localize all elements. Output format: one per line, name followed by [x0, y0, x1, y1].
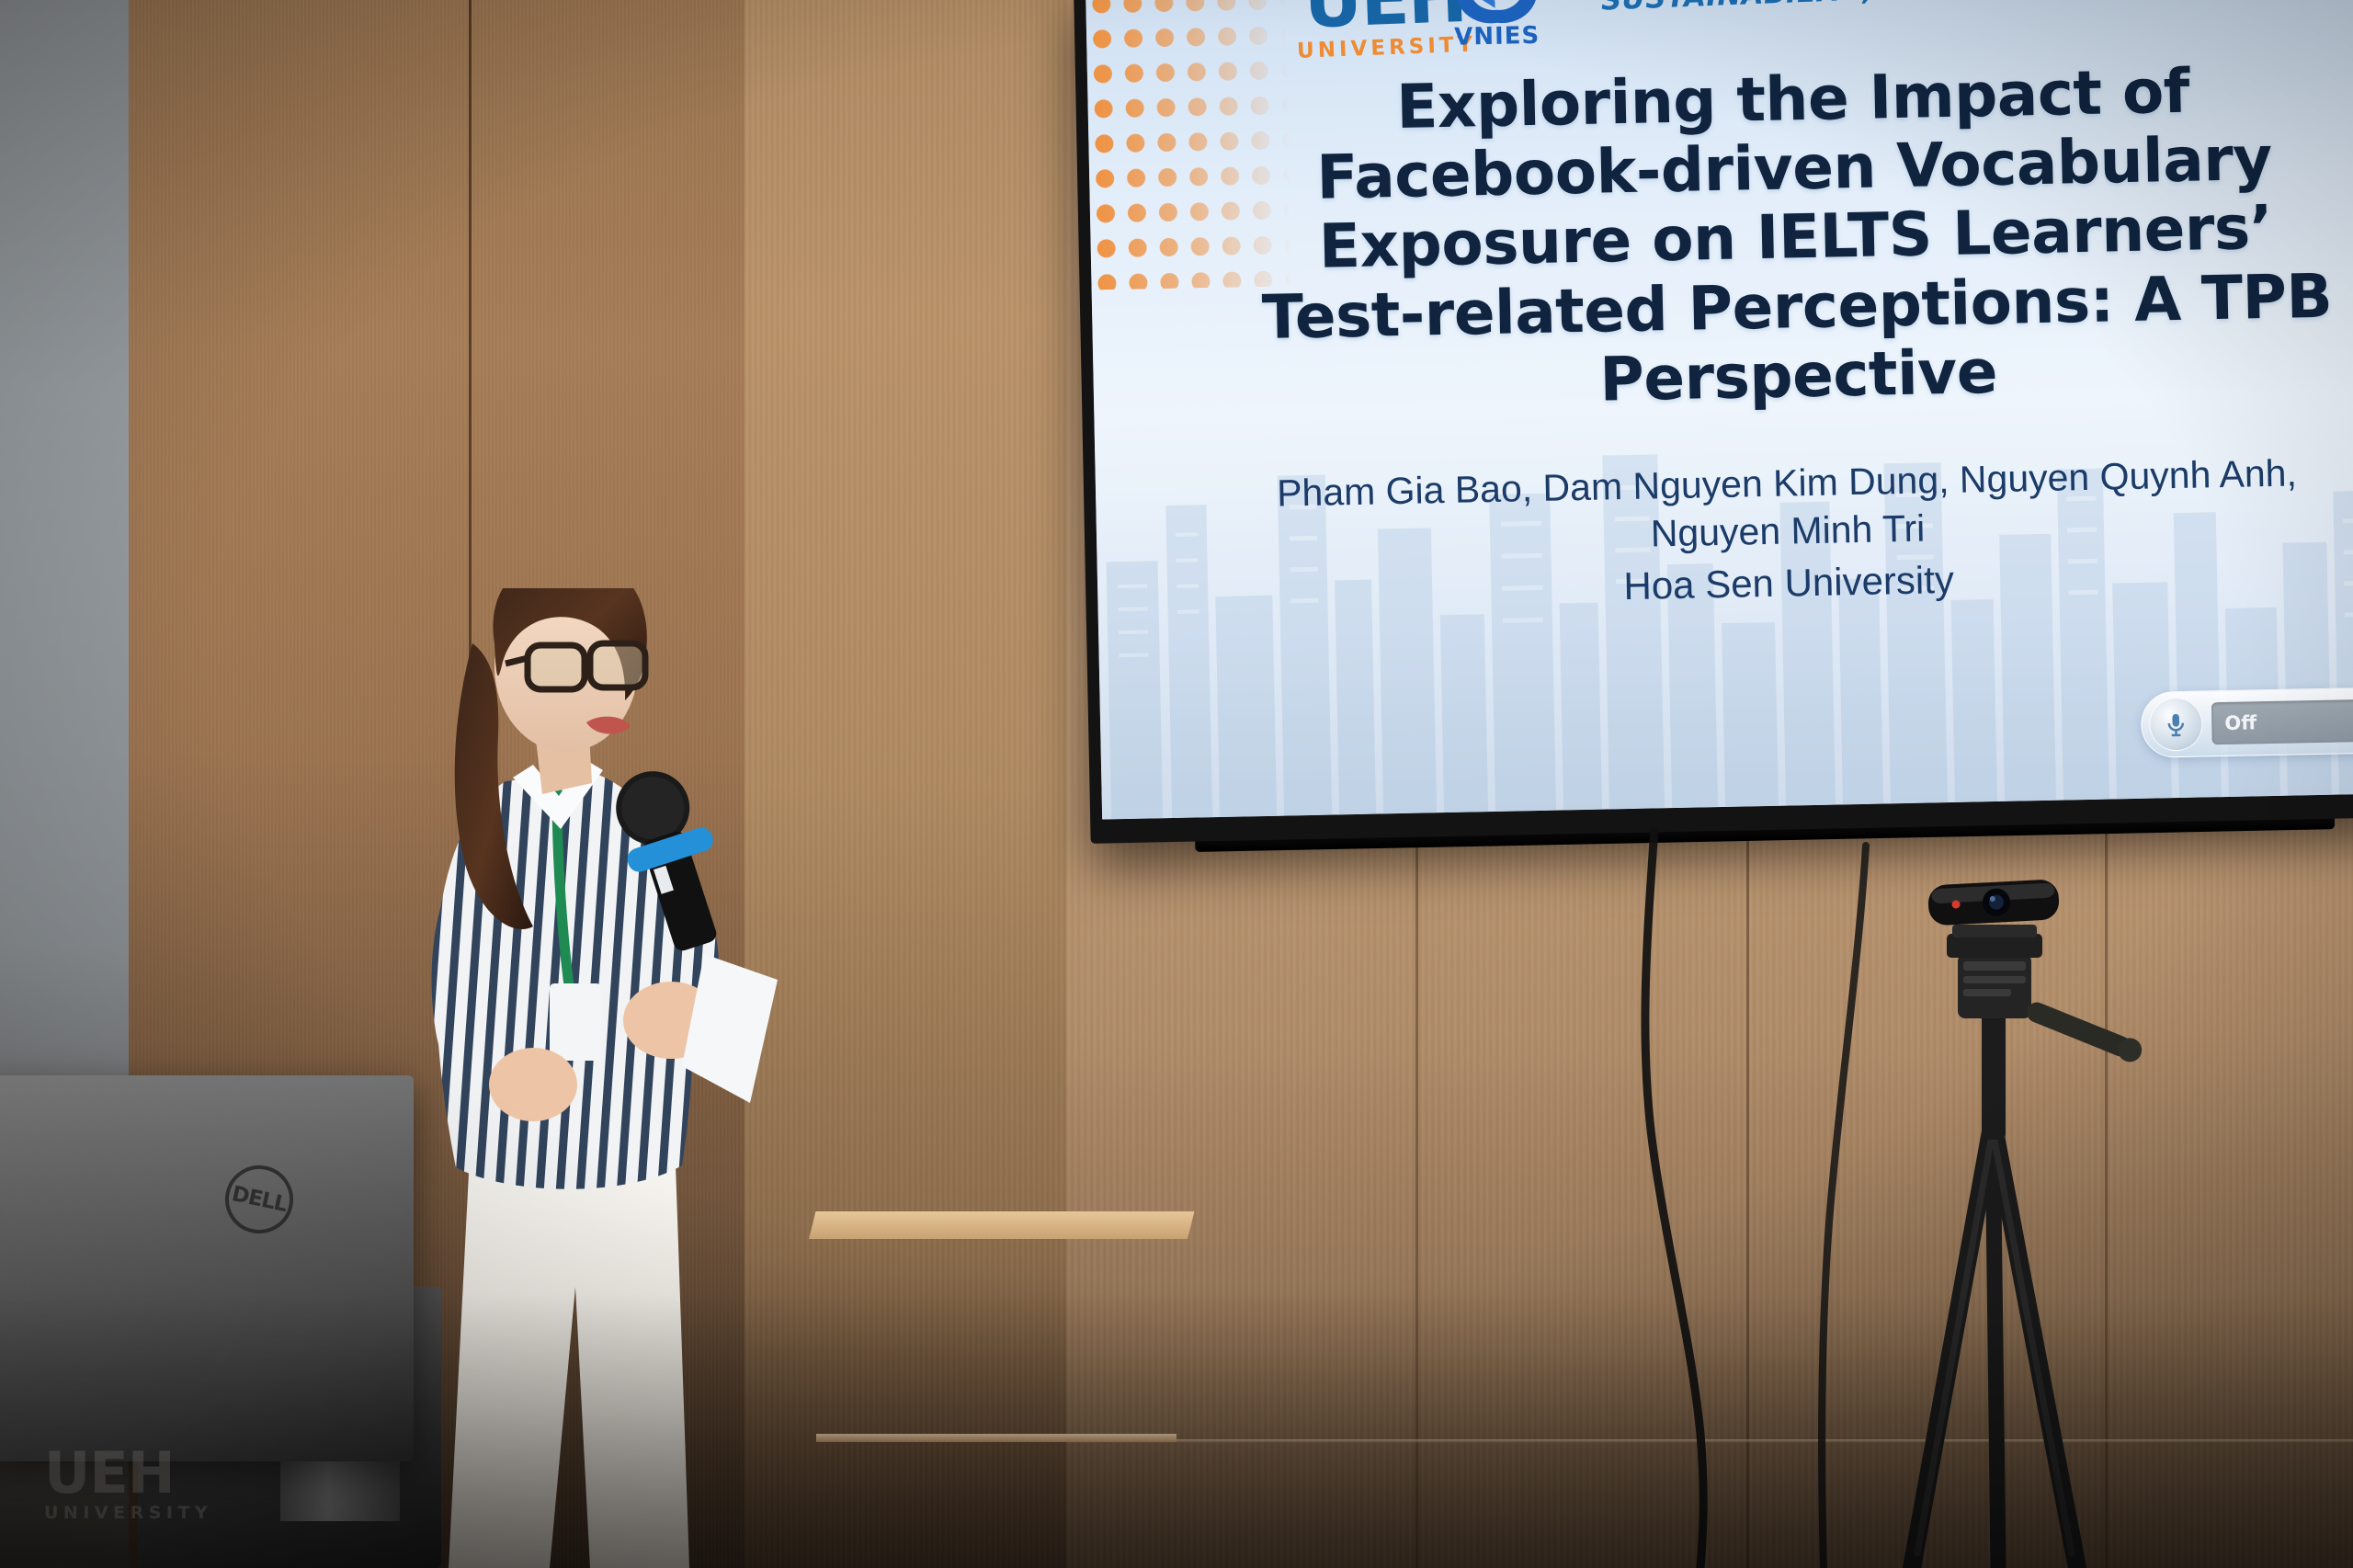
ueh-watermark-subtitle: UNIVERSITY: [44, 1505, 212, 1522]
tv-screen: UEH UNIVERSITY: [1086, 0, 2353, 820]
presenter-badge: [550, 983, 601, 1061]
presenter-person: [395, 588, 983, 1568]
microphone-icon[interactable]: [2149, 698, 2203, 752]
ueh-watermark: UEH UNIVERSITY: [44, 1445, 212, 1522]
conference-banner-line2: SUSTAINABILITY, INTERNATIONALIZATION, & …: [1600, 0, 2353, 18]
slide-title: Exploring the Impact of Facebook-driven …: [1244, 53, 2347, 421]
conference-banner: INNOVATION, SUSTAINABILITY, INTERNATIONA…: [1599, 0, 2353, 18]
ueh-logo: UEH UNIVERSITY: [1294, 0, 1477, 62]
presenter-hand-left: [489, 1048, 577, 1121]
vnies-logo-glyph: [1453, 0, 1539, 29]
camera-tripod: [1802, 846, 2188, 1568]
microphone-status-label: Off: [2211, 699, 2353, 745]
ueh-watermark-mark: UEH: [44, 1445, 212, 1502]
microphone-status-widget[interactable]: Off: [2141, 687, 2353, 757]
presentation-slide: UEH UNIVERSITY: [1086, 0, 2353, 820]
vnies-logo: VNIES: [1453, 0, 1540, 50]
ueh-logo-subtitle: UNIVERSITY: [1297, 35, 1477, 62]
dell-monitor: [0, 1075, 414, 1461]
wall-mounted-tv: UEH UNIVERSITY: [1074, 0, 2353, 844]
presenter-glasses: [506, 643, 645, 689]
presentation-photo-scene: UEH UNIVERSITY: [0, 0, 2353, 1568]
